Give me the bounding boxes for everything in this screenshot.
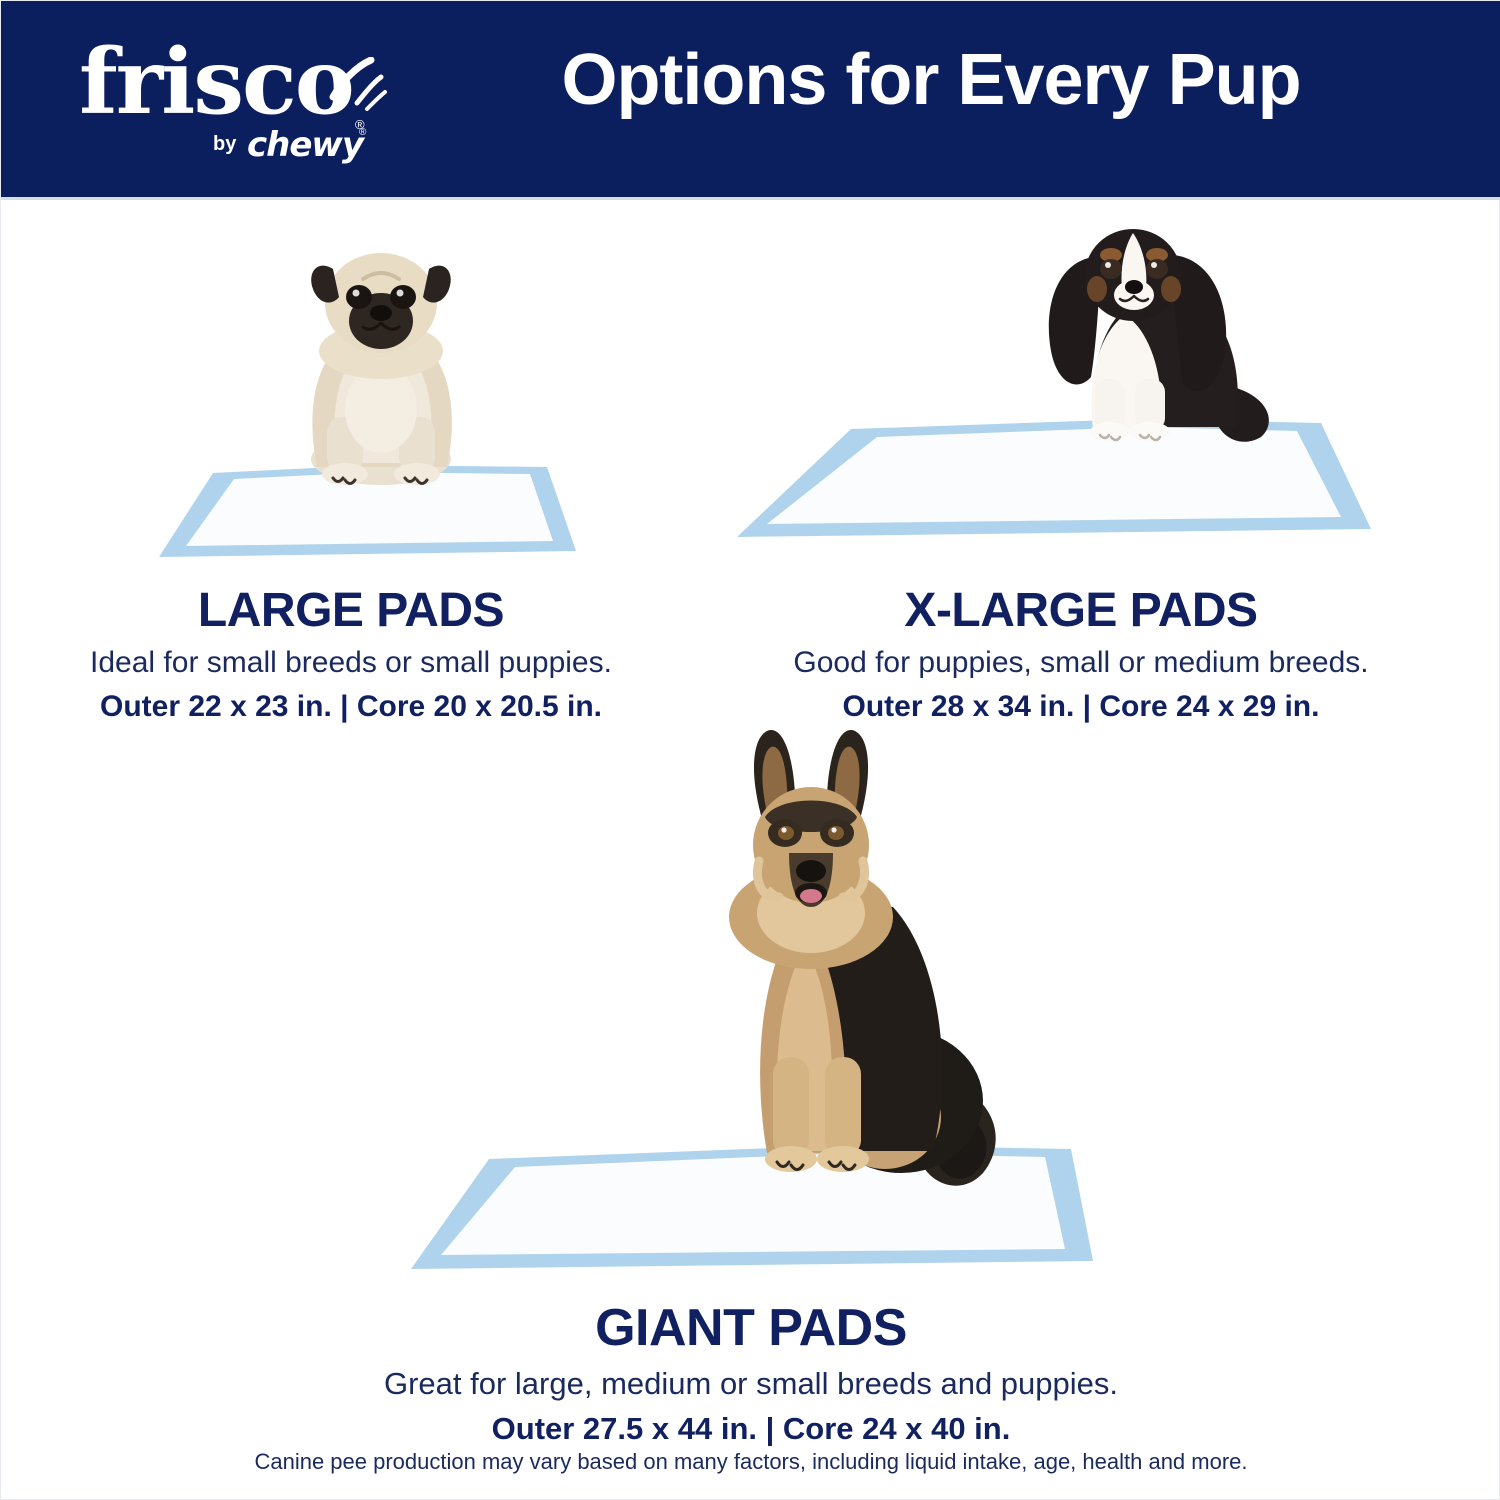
- pee-pad-xlarge-icon: [737, 419, 1371, 537]
- cavalier-spaniel-dog-illustration: [1049, 229, 1269, 442]
- product-description-giant: Great for large, medium or small breeds …: [1, 1365, 1500, 1404]
- logo-wordmark: frisco: [79, 37, 353, 127]
- header-bar: frisco ® by chewy ® Options for Every Pu…: [1, 1, 1500, 197]
- giant-pad-scene: [381, 721, 1121, 1301]
- product-dimensions-giant: Outer 27.5 x 44 in. | Core 24 x 40 in.: [1, 1410, 1500, 1449]
- product-title-giant: GIANT PADS: [1, 1301, 1500, 1356]
- product-title-large: LARGE PADS: [1, 586, 701, 636]
- disclaimer-text: Canine pee production may vary based on …: [1, 1449, 1500, 1475]
- caption-giant: GIANT PADS Great for large, medium or sm…: [1, 1301, 1500, 1449]
- product-panel-giant: GIANT PADS Great for large, medium or sm…: [1, 721, 1500, 1481]
- logo-chewy-wordmark: chewy: [247, 125, 363, 165]
- caption-large: LARGE PADS Ideal for small breeds or sma…: [1, 586, 701, 725]
- header-divider: [1, 197, 1500, 200]
- product-panel-xlarge: X-LARGE PADS Good for puppies, small or …: [701, 211, 1500, 731]
- product-dimensions-xlarge: Outer 28 x 34 in. | Core 24 x 29 in.: [701, 688, 1461, 726]
- page-title: Options for Every Pup: [431, 43, 1431, 119]
- product-title-xlarge: X-LARGE PADS: [701, 586, 1461, 636]
- german-shepherd-dog-illustration: [729, 730, 996, 1186]
- infographic-canvas: frisco ® by chewy ® Options for Every Pu…: [0, 0, 1500, 1500]
- logo-swoosh-icon: [327, 57, 387, 113]
- pug-dog-illustration: [311, 253, 452, 485]
- caption-xlarge: X-LARGE PADS Good for puppies, small or …: [701, 586, 1461, 725]
- frisco-logo: frisco ® by chewy ®: [79, 41, 379, 161]
- product-panel-large: LARGE PADS Ideal for small breeds or sma…: [1, 211, 701, 731]
- product-dimensions-large: Outer 22 x 23 in. | Core 20 x 20.5 in.: [1, 688, 701, 726]
- logo-chewy-registered-mark: ®: [359, 127, 366, 138]
- product-description-large: Ideal for small breeds or small puppies.: [1, 644, 701, 682]
- xlarge-pad-scene: [721, 211, 1381, 571]
- large-pad-scene: [141, 231, 621, 571]
- product-description-xlarge: Good for puppies, small or medium breeds…: [701, 644, 1461, 682]
- pee-pad-giant-icon: [411, 1145, 1093, 1269]
- logo-by-text: by: [213, 133, 236, 156]
